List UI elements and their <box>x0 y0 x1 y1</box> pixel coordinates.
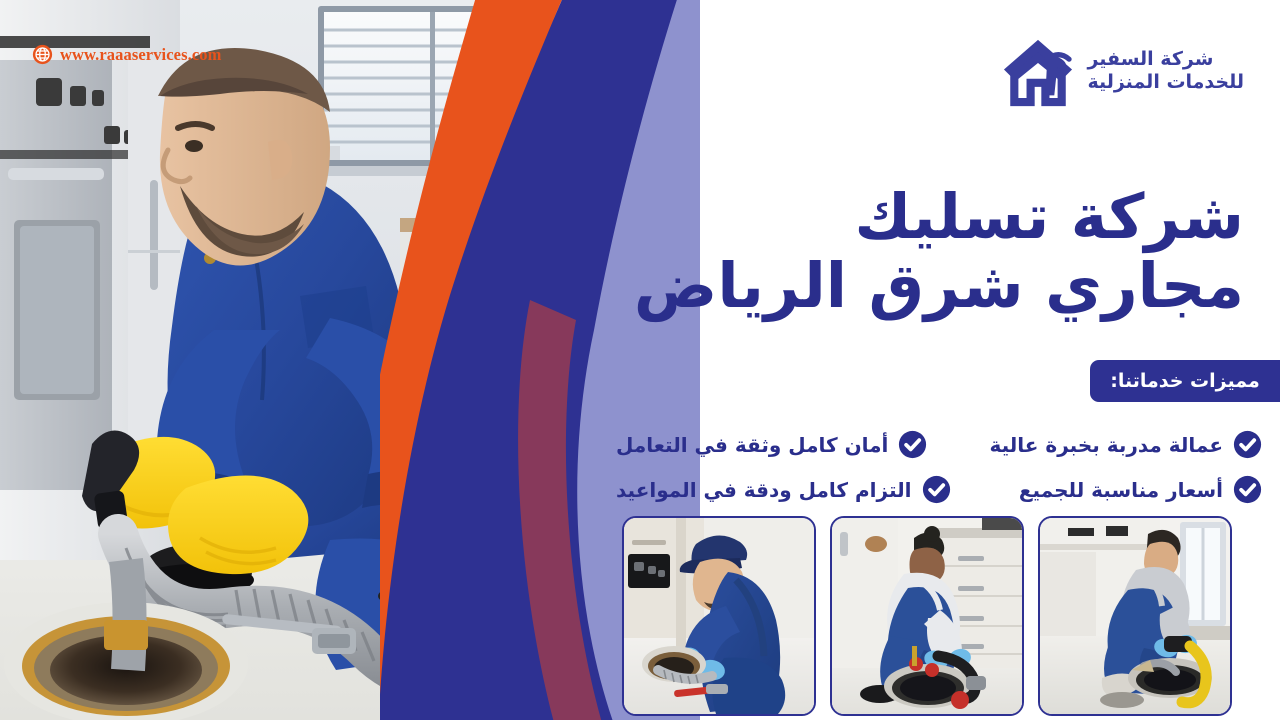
thumbnail-gallery <box>622 516 1270 712</box>
logo-text: شركة السفير للخدمات المنزلية <box>1087 48 1244 94</box>
website-url-text: www.raaaservices.com <box>60 45 221 65</box>
feature-item-2: أسعار مناسبة للجميع <box>951 467 1262 512</box>
house-hammer-icon <box>1001 34 1075 108</box>
feature-item-3: التزام كامل ودقة في المواعيد <box>612 467 951 512</box>
page-title: شركة تسليك مجاري شرق الرياض <box>614 182 1244 321</box>
feature-label-2: أسعار مناسبة للجميع <box>1019 478 1223 502</box>
website-url-badge[interactable]: www.raaaservices.com <box>32 44 221 65</box>
feature-item-1: أمان كامل وثقة في التعامل <box>612 422 951 467</box>
globe-icon <box>32 44 53 65</box>
features-banner-label: مميزات خدماتنا: <box>1110 370 1260 392</box>
thumbnail-plumber-cap-drain[interactable] <box>622 516 816 716</box>
company-logo[interactable]: شركة السفير للخدمات المنزلية <box>1001 34 1244 108</box>
ad-banner: www.raaaservices.com شركة السفير للخدمات… <box>0 0 1280 720</box>
check-circle-icon <box>922 475 951 504</box>
thumbnail-plumber-yellow-hose[interactable] <box>1038 516 1232 716</box>
check-circle-icon <box>898 430 927 459</box>
feature-label-1: أمان كامل وثقة في التعامل <box>616 433 888 457</box>
feature-label-0: عمالة مدربة بخبرة عالية <box>989 433 1223 457</box>
content-panel: شركة السفير للخدمات المنزلية شركة تسليك … <box>600 0 1280 720</box>
headline-line-2: مجاري شرق الرياض <box>614 251 1244 320</box>
logo-line-2: للخدمات المنزلية <box>1087 71 1244 94</box>
feature-item-0: عمالة مدربة بخبرة عالية <box>951 422 1262 467</box>
features-banner: مميزات خدماتنا: <box>1090 360 1280 402</box>
logo-line-1: شركة السفير <box>1087 48 1213 71</box>
thumbnail-plumber-woman-drain[interactable] <box>830 516 1024 716</box>
check-circle-icon <box>1233 475 1262 504</box>
features-list: عمالة مدربة بخبرة عالية أمان كامل وثقة ف… <box>612 422 1262 512</box>
check-circle-icon <box>1233 430 1262 459</box>
hero-photo <box>0 0 560 720</box>
headline-line-1: شركة تسليك <box>614 182 1244 251</box>
feature-label-3: التزام كامل ودقة في المواعيد <box>616 478 912 502</box>
